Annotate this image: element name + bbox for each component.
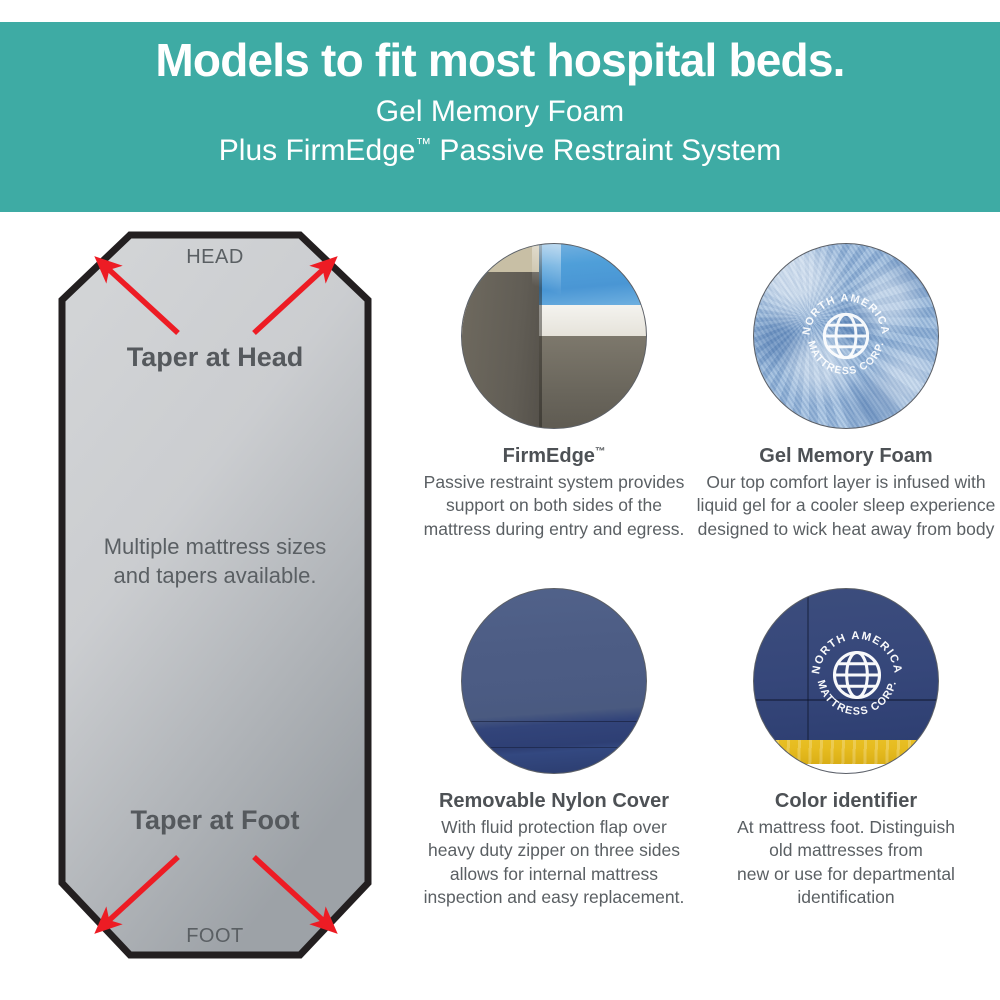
page-title: Models to fit most hospital beds. — [0, 36, 1000, 84]
gel-memory-foam-photo: NORTH AMERICA MATTRESS CORP. — [753, 243, 939, 429]
header-subtitle-line1: Gel Memory Foam — [0, 94, 1000, 131]
north-america-mattress-corp-logo-icon: NORTH AMERICA MATTRESS CORP. — [803, 621, 911, 729]
removable-nylon-cover-photo — [461, 588, 647, 774]
header-subtitle-line2: Plus FirmEdge™ Passive Restraint System — [0, 133, 1000, 170]
feature-title-color-identifier: Color identifier — [700, 789, 992, 813]
feature-grid: FirmEdge™ Passive restraint system provi… — [408, 243, 992, 973]
feature-description-firmedge: Passive restraint system provides suppor… — [408, 471, 700, 541]
firmedge-foam-cross-section-photo — [461, 243, 647, 429]
cover-vertical-seam — [807, 589, 809, 740]
feature-title-text: FirmEdge — [503, 445, 595, 467]
cover-seam-line-secondary — [462, 747, 646, 748]
cover-horizontal-seam — [754, 699, 938, 701]
feature-card-firmedge: FirmEdge™ Passive restraint system provi… — [408, 243, 700, 541]
mattress-diagram: HEAD Taper at Head Multiple mattress siz… — [40, 228, 390, 968]
background-corner — [462, 244, 539, 272]
feature-description-gel-memory-foam: Our top comfort layer is infused with li… — [696, 471, 996, 541]
logo-top-text: NORTH AMERICA — [801, 292, 892, 336]
feature-description-color-identifier: At mattress foot. Distinguish old mattre… — [696, 816, 996, 909]
feature-description-removable-nylon-cover: With fluid protection flap over heavy du… — [408, 816, 700, 909]
cover-seam-line — [462, 721, 646, 723]
trademark-symbol: ™ — [595, 446, 605, 457]
gold-color-identifier-band — [754, 740, 938, 764]
header-subtitle-line2-before: Plus FirmEdge — [219, 134, 416, 167]
feature-card-color-identifier: NORTH AMERICA MATTRESS CORP. Color ident… — [700, 588, 992, 909]
logo-top-text: NORTH AMERICA — [810, 630, 904, 675]
feature-card-removable-nylon-cover: Removable Nylon Cover With fluid protect… — [408, 588, 700, 909]
feature-title-gel-memory-foam: Gel Memory Foam — [700, 444, 992, 468]
feature-card-gel-memory-foam: NORTH AMERICA MATTRESS CORP. Gel Memory … — [700, 243, 992, 541]
feature-title-firmedge: FirmEdge™ — [408, 444, 700, 468]
logo-bottom-text: MATTRESS CORP. — [805, 340, 887, 377]
north-america-mattress-corp-logo-icon: NORTH AMERICA MATTRESS CORP. — [794, 284, 898, 388]
mattress-shape-svg — [40, 228, 390, 968]
feature-title-removable-nylon-cover: Removable Nylon Cover — [408, 789, 700, 813]
color-identifier-photo: NORTH AMERICA MATTRESS CORP. — [753, 588, 939, 774]
mattress-outline-shape — [62, 235, 368, 955]
trademark-symbol: ™ — [416, 136, 432, 153]
firm-edge-side-panel — [462, 244, 539, 428]
gel-highlight — [532, 244, 561, 307]
photo-bottom-edge — [754, 764, 938, 773]
header-subtitle-line2-after: Passive Restraint System — [431, 134, 781, 167]
header-banner: Models to fit most hospital beds. Gel Me… — [0, 22, 1000, 212]
